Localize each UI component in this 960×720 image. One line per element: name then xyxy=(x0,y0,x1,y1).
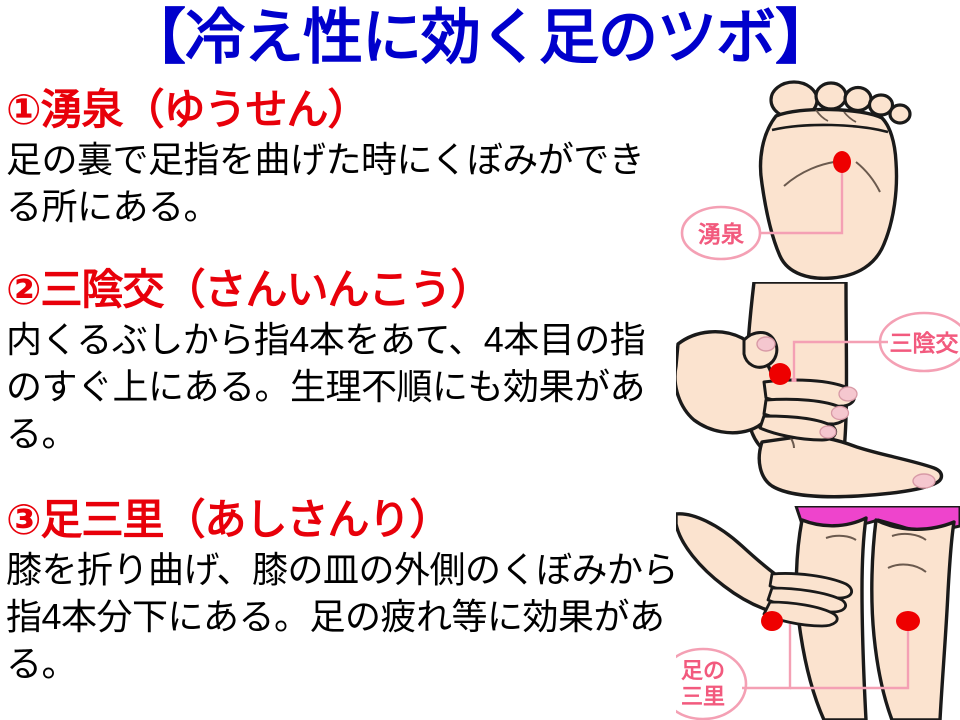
section-2-body: 内くるぶしから指4本をあて、4本目の指のすぐ上にある。生理不順にも効果がある。 xyxy=(6,316,678,457)
infographic-page: 【冷え性に効く足のツボ】 ①湧泉（ゆうせん） 足の裏で足指を曲げた時にくぼみがで… xyxy=(0,0,960,720)
foot-sole-illustration: 湧泉 xyxy=(676,78,960,280)
thumbnail xyxy=(757,337,775,351)
foot-sole-outline xyxy=(761,109,897,278)
callout-label-ashisanri-line1: 足の xyxy=(681,658,725,683)
section-yusen: ①湧泉（ゆうせん） 足の裏で足指を曲げた時にくぼみができる所にある。 xyxy=(6,84,678,230)
knees-illustration: 足の 三里 xyxy=(676,506,960,720)
section-saninkou: ②三陰交（さんいんこう） 内くるぶしから指4本をあて、4本目の指のすぐ上にある。… xyxy=(6,264,678,457)
toenail xyxy=(913,474,935,488)
acupoint-marker xyxy=(769,363,791,385)
section-ashisanri: ③足三里（あしさんり） 膝を折り曲げ、膝の皿の外側のくぼみから指4本分下にある。… xyxy=(6,494,678,687)
foot-profile xyxy=(759,436,941,497)
section-3-body: 膝を折り曲げ、膝の皿の外側のくぼみから指4本分下にある。足の疲れ等に効果がある。 xyxy=(6,546,678,687)
callout-label-saninkou: 三陰交 xyxy=(890,330,959,356)
callout-label-yusen: 湧泉 xyxy=(698,221,745,247)
section-1-heading: ①湧泉（ゆうせん） xyxy=(6,84,678,136)
acupoint-marker-right xyxy=(896,611,920,631)
callout-leader-line-left xyxy=(742,624,790,688)
page-title: 【冷え性に効く足のツボ】 xyxy=(0,2,960,74)
callout-label-ashisanri-line2: 三里 xyxy=(681,684,725,709)
ankle-illustration: 三陰交 xyxy=(676,282,960,504)
section-2-heading: ②三陰交（さんいんこう） xyxy=(6,264,678,316)
section-3-heading: ③足三里（あしさんり） xyxy=(6,494,678,546)
acupoint-marker xyxy=(833,151,851,173)
acupoint-marker-left xyxy=(761,611,783,631)
section-1-body: 足の裏で足指を曲げた時にくぼみができる所にある。 xyxy=(6,136,678,230)
